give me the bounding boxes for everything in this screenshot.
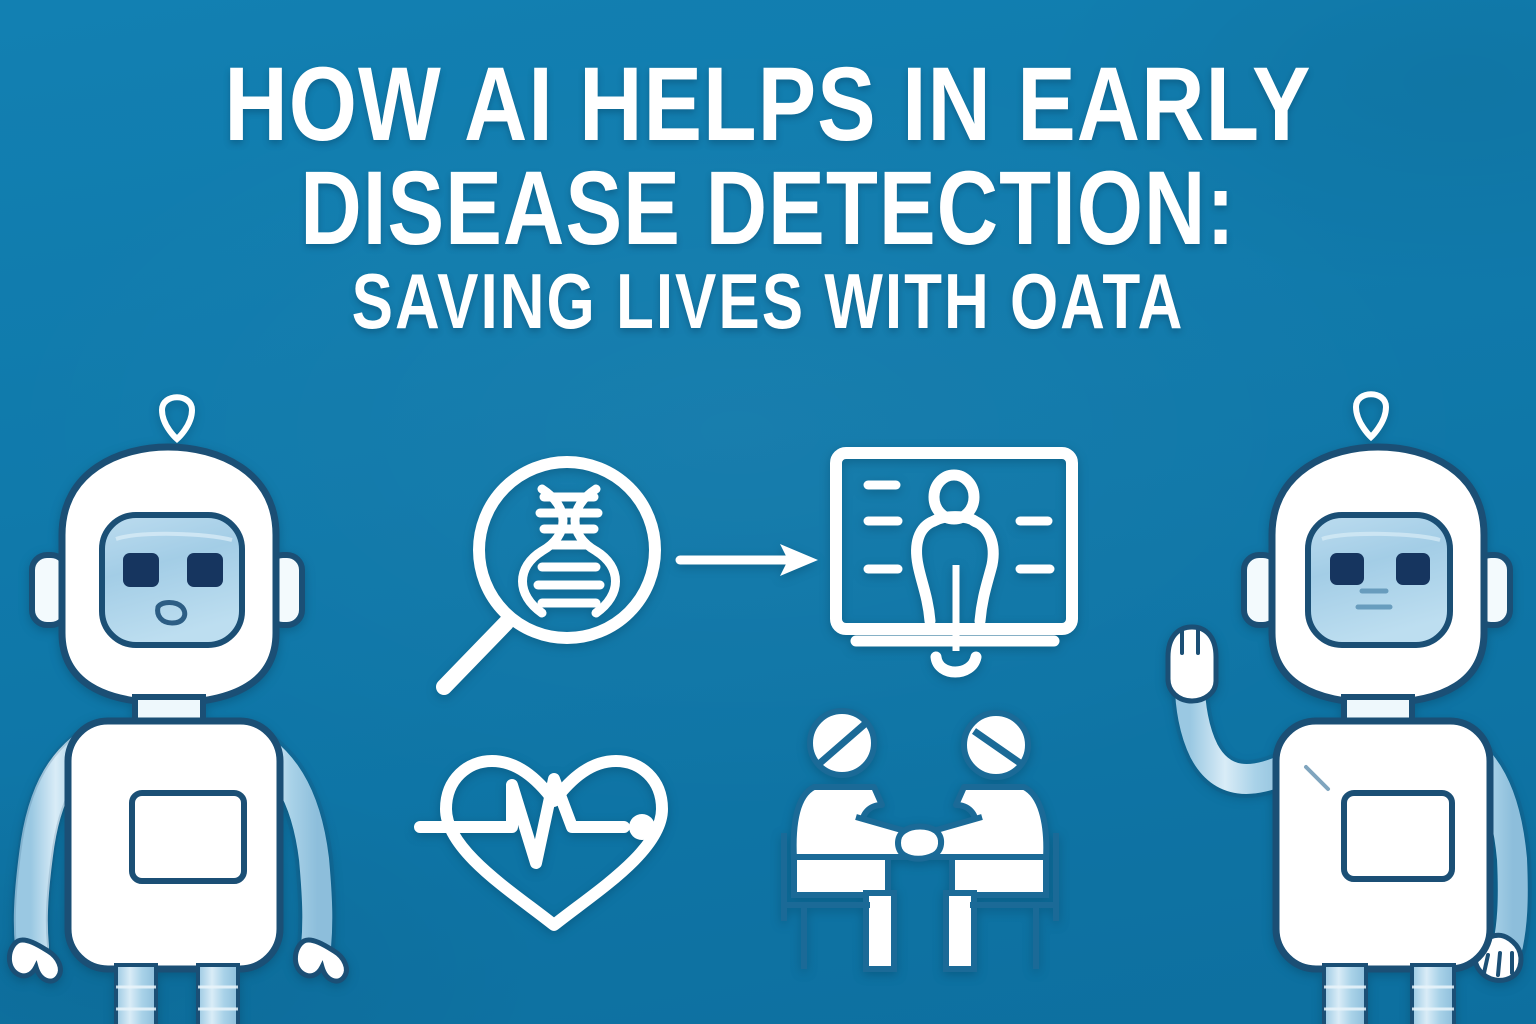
doctor-patient-handshake-icon — [770, 705, 1070, 985]
heart-ecg-icon — [418, 735, 708, 935]
leg-left-left — [116, 965, 156, 1024]
antenna-tip-left — [162, 397, 192, 439]
eye-right-left — [1330, 553, 1364, 585]
hand-waving — [1168, 627, 1216, 701]
magnifier-handle — [444, 623, 506, 687]
leg-right-right — [1412, 965, 1454, 1024]
scan-ticks-left — [868, 485, 898, 569]
chest-panel-left — [132, 793, 244, 881]
antenna-tip-right — [1356, 394, 1386, 437]
arrow-right-icon — [676, 536, 826, 584]
handshake — [898, 827, 941, 859]
title-line-3: SAVING LIVES WITH OATA — [0, 264, 1536, 342]
eye-left — [123, 553, 159, 587]
title-block: HOW AI HELPS IN EARLY DISEASE DETECTION:… — [0, 52, 1536, 326]
eye-right-right — [1396, 553, 1430, 585]
lap-right-person — [952, 857, 1046, 895]
title-line-1: HOW AI HELPS IN EARLY — [0, 52, 1536, 157]
scan-ticks-right — [1020, 521, 1050, 569]
leg-left-right — [198, 965, 238, 1024]
dna-magnifier-icon — [420, 445, 710, 715]
person-left — [784, 711, 912, 969]
magnifier-lens — [479, 462, 655, 638]
eye-right — [187, 553, 223, 587]
hand-left-left — [9, 940, 60, 981]
hand-left-right — [295, 940, 346, 981]
ecg-dot — [629, 814, 655, 840]
leg-left-person — [866, 893, 894, 969]
person-right — [926, 713, 1056, 969]
title-line-2: DISEASE DETECTION: — [8, 156, 1529, 261]
monitor-foot — [936, 657, 976, 672]
robot-right — [1160, 385, 1536, 1024]
chest-panel-right — [1344, 793, 1452, 879]
monitor-patient-scan-icon — [826, 445, 1092, 695]
leg-right-person — [946, 893, 974, 969]
infographic-canvas: HOW AI HELPS IN EARLY DISEASE DETECTION:… — [0, 0, 1536, 1024]
dna-helix — [523, 489, 616, 613]
leg-right-left — [1324, 965, 1366, 1024]
lap-left-person — [794, 857, 888, 895]
robot-left — [10, 385, 380, 1024]
